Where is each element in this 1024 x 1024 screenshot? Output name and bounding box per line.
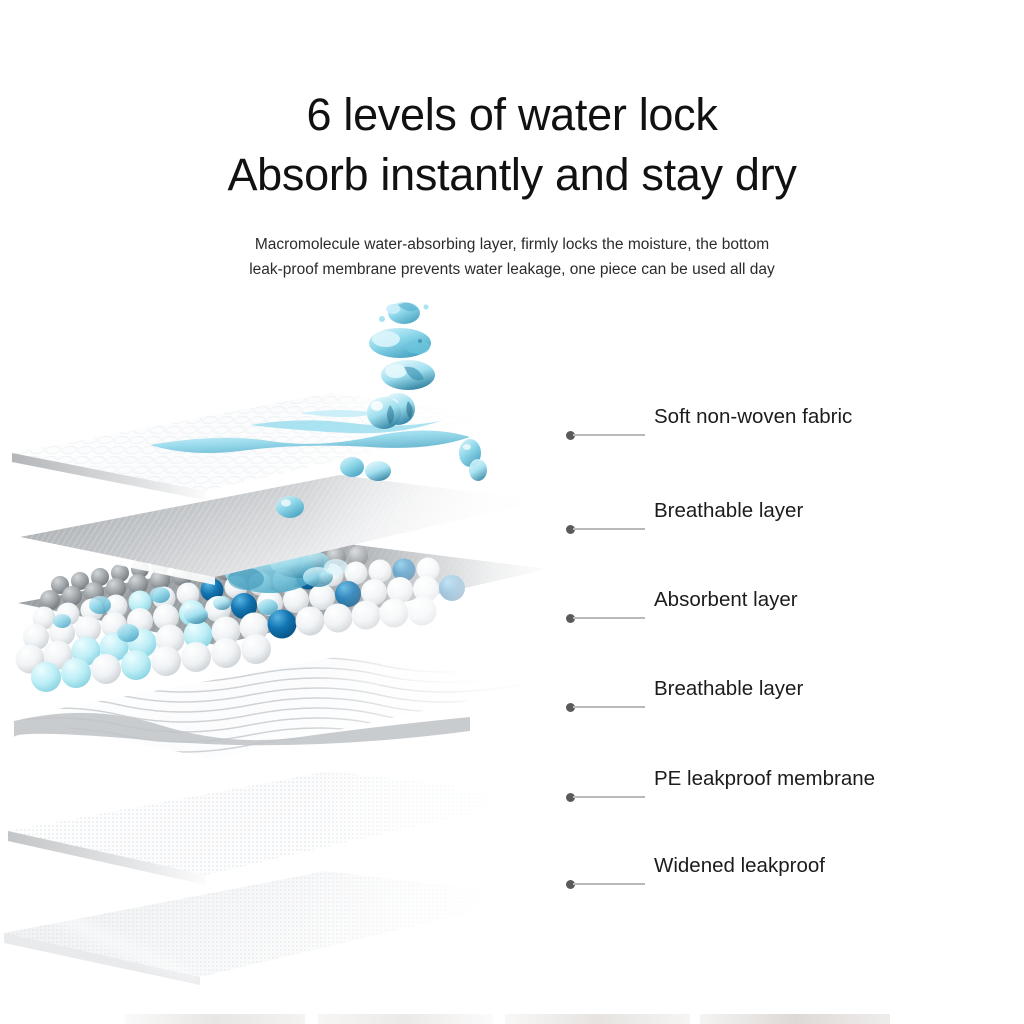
callout-leader-line — [573, 434, 645, 436]
headline-line-2: Absorb instantly and stay dry — [0, 146, 1024, 204]
infographic-page: 6 levels of water lock Absorb instantly … — [0, 0, 1024, 1024]
callout-leader-line — [573, 617, 645, 619]
layer-stack-illustration — [0, 285, 1024, 985]
subtitle-line-1: Macromolecule water-absorbing layer, fir… — [0, 232, 1024, 257]
adjacent-tile-sliver — [0, 1014, 1024, 1024]
callout-leader-line — [573, 528, 645, 530]
headline-line-1: 6 levels of water lock — [0, 86, 1024, 144]
callout-label: PE leakproof membrane — [654, 767, 875, 791]
callout-label: Soft non-woven fabric — [654, 405, 852, 429]
layer-widened-leakproof — [0, 855, 560, 985]
subtitle-line-2: leak-proof membrane prevents water leaka… — [0, 257, 1024, 282]
callout-label: Absorbent layer — [654, 588, 798, 612]
layer-soft-non-woven-fabric — [0, 380, 540, 505]
callout-label: Widened leakproof — [654, 854, 825, 878]
callout-label: Breathable layer — [654, 499, 803, 523]
callout-leader-line — [573, 796, 645, 798]
callout-label: Breathable layer — [654, 677, 803, 701]
callout-leader-line — [573, 706, 645, 708]
callout-leader-line — [573, 883, 645, 885]
